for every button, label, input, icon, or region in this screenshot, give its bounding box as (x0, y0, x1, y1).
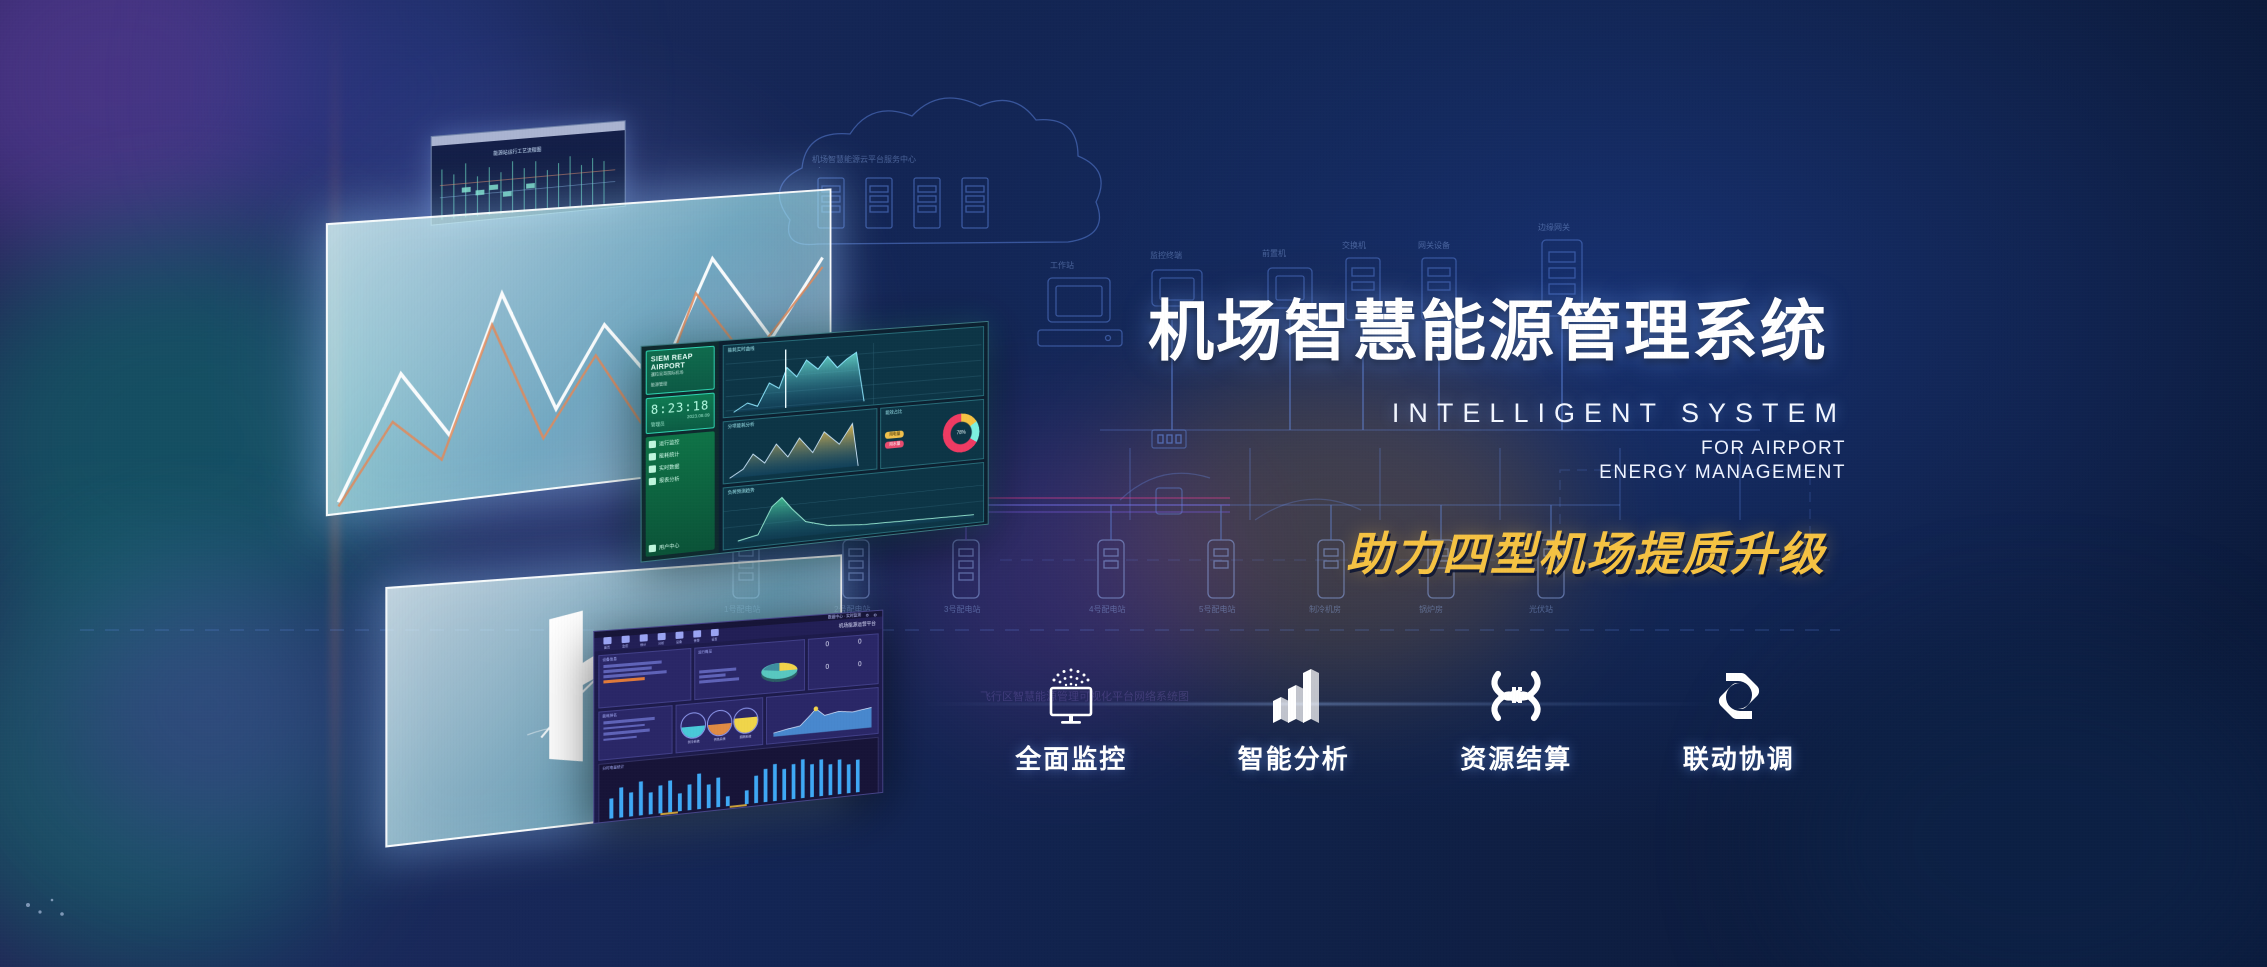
kpi-value: 0 (812, 663, 843, 686)
legend-pill-water: 用水量 (885, 440, 904, 449)
user-icon (649, 544, 656, 552)
hero-banner: 机场智慧能源云平台服务中心 · 工作站 监控终端 前置机 交换机 网关设备 边缘… (0, 0, 2267, 967)
report-icon (649, 478, 656, 486)
gauges-card[interactable]: 供冷系统 供热系统 照明系统 (676, 697, 764, 753)
kpi-value: 0 (812, 640, 843, 663)
nav-item-home[interactable]: 首页 (601, 637, 612, 651)
realtime-icon (649, 466, 656, 474)
analysis-icon (657, 633, 665, 641)
monitor-icon (621, 635, 629, 643)
card-label: 设备信息 (602, 657, 617, 663)
menu-label: 能耗统计 (659, 451, 679, 460)
subtitle-english: INTELLIGENT SYSTEM (1386, 398, 1846, 429)
subitem-energy-card[interactable]: 分项能耗分析 (723, 408, 878, 484)
gauge-label: 供冷系统 (681, 738, 707, 744)
brand-menu-label: 能源管理 (651, 378, 710, 389)
menu-label: 用户中心 (659, 542, 679, 551)
nav-item-analysis[interactable]: 分析 (656, 633, 667, 647)
realtime-load-card[interactable] (766, 687, 879, 745)
teal-dashboard-main: 能耗实时曲线 分项能耗分析 (719, 322, 988, 553)
nav-label: 告警 (694, 638, 700, 642)
gauge-heating (707, 708, 732, 736)
nav-item-settings[interactable]: 设置 (709, 629, 720, 643)
home-icon (603, 637, 611, 645)
menu-item-monitor[interactable]: 运行监控 (649, 436, 712, 449)
teal-dashboard-clock: 8:23:18 2023.08.09 管理员 (646, 393, 715, 435)
teal-dashboard-sidebar: SIEM REAP AIRPORT 暹粒吴哥国际机场 能源管理 8:23:18 … (642, 341, 719, 561)
feature-item-analysis[interactable]: 智能分析 (1183, 665, 1406, 795)
nav-item-monitor[interactable]: 监控 (620, 635, 631, 649)
card-label: 能效占比 (885, 409, 902, 416)
feature-label: 智能分析 (1238, 739, 1350, 776)
bar-chart-3d-icon (1263, 665, 1325, 727)
feature-label: 全面监控 (1015, 739, 1127, 776)
menu-label: 报表分析 (659, 476, 679, 485)
teal-dashboard-menu[interactable]: 运行监控 能耗统计 实时数据 报表分析 用户中心 (646, 432, 715, 557)
gauge-label: 照明系统 (733, 733, 758, 739)
feature-item-coordination[interactable]: 联动协调 (1628, 665, 1851, 795)
menu-label: 运行监控 (659, 439, 679, 448)
feature-item-settlement[interactable]: 资源结算 (1405, 665, 1628, 795)
menu-label: 实时数据 (659, 463, 679, 472)
nav-label: 监控 (622, 644, 628, 649)
gauge-label: 供热系统 (707, 735, 732, 741)
gear-icon (710, 629, 718, 637)
interlocking-links-icon (1708, 665, 1770, 727)
nav-label: 设置 (711, 637, 717, 641)
area-chart-load (770, 691, 875, 740)
subtitle-line-2: FOR AIRPORT (1386, 438, 1846, 460)
card-label: 运行概览 (698, 649, 712, 655)
nav-label: 设备 (676, 640, 682, 645)
feature-item-monitoring[interactable]: 全面监控 (960, 665, 1183, 795)
kpi-value: 0 (845, 660, 875, 683)
menu-item-reports[interactable]: 报表分析 (649, 473, 712, 486)
menu-item-realtime[interactable]: 实时数据 (649, 460, 712, 473)
nav-label: 统计 (640, 642, 646, 647)
nav-item-stats[interactable]: 统计 (638, 634, 649, 648)
scada-title: 能源站运行工艺流程图 (493, 146, 541, 157)
feature-list: 全面监控 智能分析 (960, 665, 1850, 795)
monitor-signal-icon (1040, 665, 1102, 727)
nav-item-alarms[interactable]: 告警 (691, 630, 702, 644)
tagline: 助力四型机场提质升级 (1346, 518, 1826, 584)
stats-icon (639, 634, 647, 642)
teal-dashboard[interactable]: SIEM REAP AIRPORT 暹粒吴哥国际机场 能源管理 8:23:18 … (641, 321, 989, 563)
gauge-cooling (681, 711, 707, 740)
nav-label: 首页 (604, 645, 610, 650)
device-info-card[interactable]: 设备信息 (598, 648, 691, 709)
card-label: 能耗排名 (602, 713, 617, 719)
subtitle-line-3: ENERGY MANAGEMENT (1386, 462, 1846, 484)
menu-item-user[interactable]: 用户中心 (649, 539, 712, 553)
ranking-card[interactable]: 能耗排名 (598, 705, 672, 761)
efficiency-card[interactable]: 能效占比 用电量 用水量 78% (881, 399, 984, 469)
donut-value: 78% (943, 412, 980, 454)
teal-dashboard-brand: SIEM REAP AIRPORT 暹粒吴哥国际机场 能源管理 (646, 346, 715, 396)
legend-pill-electricity: 用电量 (885, 430, 904, 439)
menu-item-stats[interactable]: 能耗统计 (649, 448, 712, 461)
kpi-card[interactable]: 0 0 0 0 (808, 633, 879, 690)
home-icon (649, 441, 656, 449)
purple-dashboard-title: 机场能源运营平台 (839, 620, 876, 630)
kpi-value: 0 (845, 638, 875, 661)
pie-chart-3d (759, 653, 801, 686)
gauge-lighting (733, 706, 758, 734)
feature-label: 联动协调 (1683, 739, 1795, 776)
stats-icon (649, 453, 656, 461)
purple-dashboard[interactable]: 数据中心 · 实时监测 ⚙ ◍ 首页 监控 统计 分析 设备 告警 (593, 610, 883, 824)
page-title: 机场智慧能源管理系统 (1148, 278, 1828, 374)
alarm-icon (693, 630, 701, 638)
knot-cross-icon (1485, 665, 1547, 727)
device-icon (675, 631, 683, 639)
nav-label: 分析 (658, 641, 664, 646)
feature-label: 资源结算 (1460, 739, 1572, 776)
purple-dashboard-body: 设备信息 运行概览 (594, 629, 882, 824)
nav-item-devices[interactable]: 设备 (674, 631, 685, 645)
overview-card[interactable]: 运行概览 (694, 639, 805, 700)
